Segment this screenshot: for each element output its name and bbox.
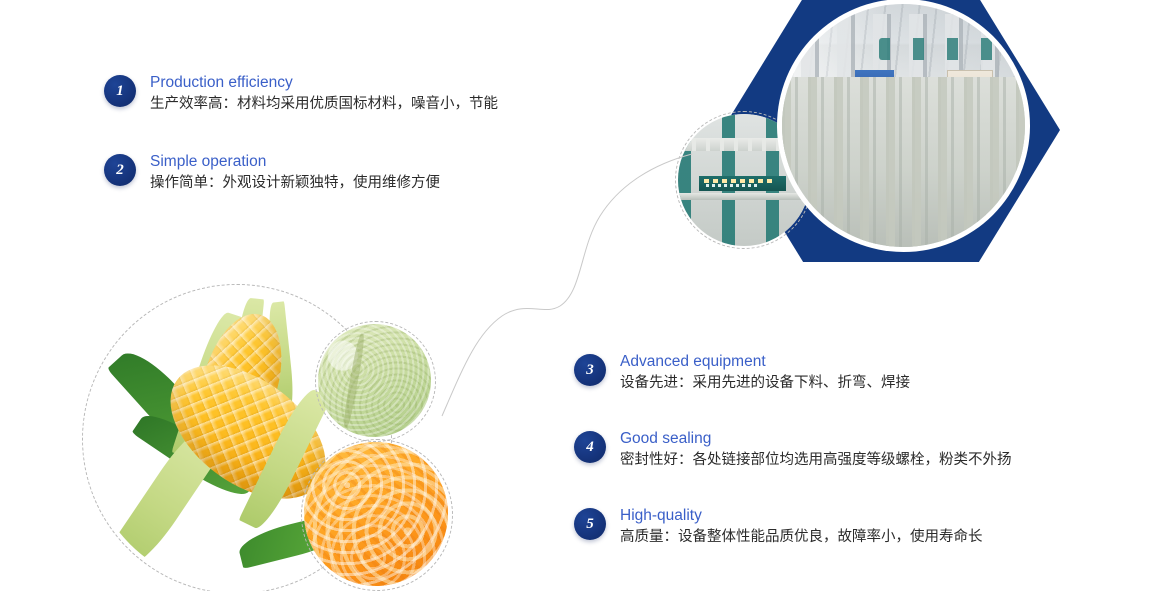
- feature-badge-4: 4: [574, 431, 606, 463]
- feature-description-4: 密封性好：各处链接部位均选用高强度等级螺栓，粉类不外扬: [620, 450, 1012, 471]
- feature-title-1: Production efficiency: [150, 73, 498, 93]
- corn-green-paste-scene: [318, 324, 431, 437]
- feature-title-3: Advanced equipment: [620, 352, 910, 372]
- feature-description-2: 操作简单：外观设计新颖独特，使用维修方便: [150, 173, 440, 194]
- feature-number-5: 5: [574, 508, 606, 540]
- mill-large-scene: [782, 4, 1025, 247]
- mill-blue-unit-b: [901, 79, 935, 103]
- feature-showcase-page: 1 Production efficiency 生产效率高：材料均采用优质国标材…: [0, 0, 1154, 591]
- mill-small-banner: [699, 176, 786, 191]
- feature-text-5: High-quality 高质量：设备整体性能品质优良，故障率小，使用寿命长: [620, 506, 983, 548]
- mill-blue-unit-a: [855, 70, 894, 99]
- feature-item-5[interactable]: 5 High-quality 高质量：设备整体性能品质优良，故障率小，使用寿命长: [574, 506, 983, 548]
- mill-platform-deck: [782, 138, 1025, 155]
- mill-control-cabinet: [942, 179, 985, 222]
- flour-mill-plant-large-photo: [782, 4, 1025, 247]
- feature-badge-1: 1: [104, 75, 136, 107]
- mill-support-legs: [782, 155, 1025, 247]
- feature-number-2: 2: [104, 154, 136, 186]
- mill-green-banner: [787, 119, 872, 140]
- feature-item-4[interactable]: 4 Good sealing 密封性好：各处链接部位均选用高强度等级螺栓，粉类不…: [574, 429, 1012, 471]
- feature-number-1: 1: [104, 75, 136, 107]
- feature-text-3: Advanced equipment 设备先进：采用先进的设备下料、折弯、焊接: [620, 352, 910, 394]
- feature-badge-2: 2: [104, 154, 136, 186]
- feature-item-2[interactable]: 2 Simple operation 操作简单：外观设计新颖独特，使用维修方便: [104, 152, 440, 194]
- corn-kernels-photo: [304, 442, 448, 586]
- feature-description-5: 高质量：设备整体性能品质优良，故障率小，使用寿命长: [620, 527, 983, 548]
- feature-title-4: Good sealing: [620, 429, 1012, 449]
- feature-description-3: 设备先进：采用先进的设备下料、折弯、焊接: [620, 373, 910, 394]
- feature-text-2: Simple operation 操作简单：外观设计新颖独特，使用维修方便: [150, 152, 440, 194]
- feature-item-1[interactable]: 1 Production efficiency 生产效率高：材料均采用优质国标材…: [104, 73, 498, 115]
- corn-kernels-scene: [304, 442, 448, 586]
- mill-platform-railing: [782, 118, 1025, 140]
- feature-number-4: 4: [574, 431, 606, 463]
- mill-motor-row: [879, 38, 996, 60]
- corn-green-paste-photo: [318, 324, 431, 437]
- corn-media-group: [86, 278, 486, 591]
- feature-text-4: Good sealing 密封性好：各处链接部位均选用高强度等级螺栓，粉类不外扬: [620, 429, 1012, 471]
- feature-description-1: 生产效率高：材料均采用优质国标材料，噪音小，节能: [150, 94, 498, 115]
- feature-badge-5: 5: [574, 508, 606, 540]
- feature-number-3: 3: [574, 354, 606, 386]
- feature-text-1: Production efficiency 生产效率高：材料均采用优质国标材料，…: [150, 73, 498, 115]
- mill-tan-hopper: [840, 91, 884, 115]
- mill-blue-conveyor: [873, 204, 948, 232]
- feature-badge-3: 3: [574, 354, 606, 386]
- mill-cream-panel: [947, 70, 993, 125]
- feature-item-3[interactable]: 3 Advanced equipment 设备先进：采用先进的设备下料、折弯、焊…: [574, 352, 910, 394]
- feature-title-2: Simple operation: [150, 152, 440, 172]
- feature-title-5: High-quality: [620, 506, 983, 526]
